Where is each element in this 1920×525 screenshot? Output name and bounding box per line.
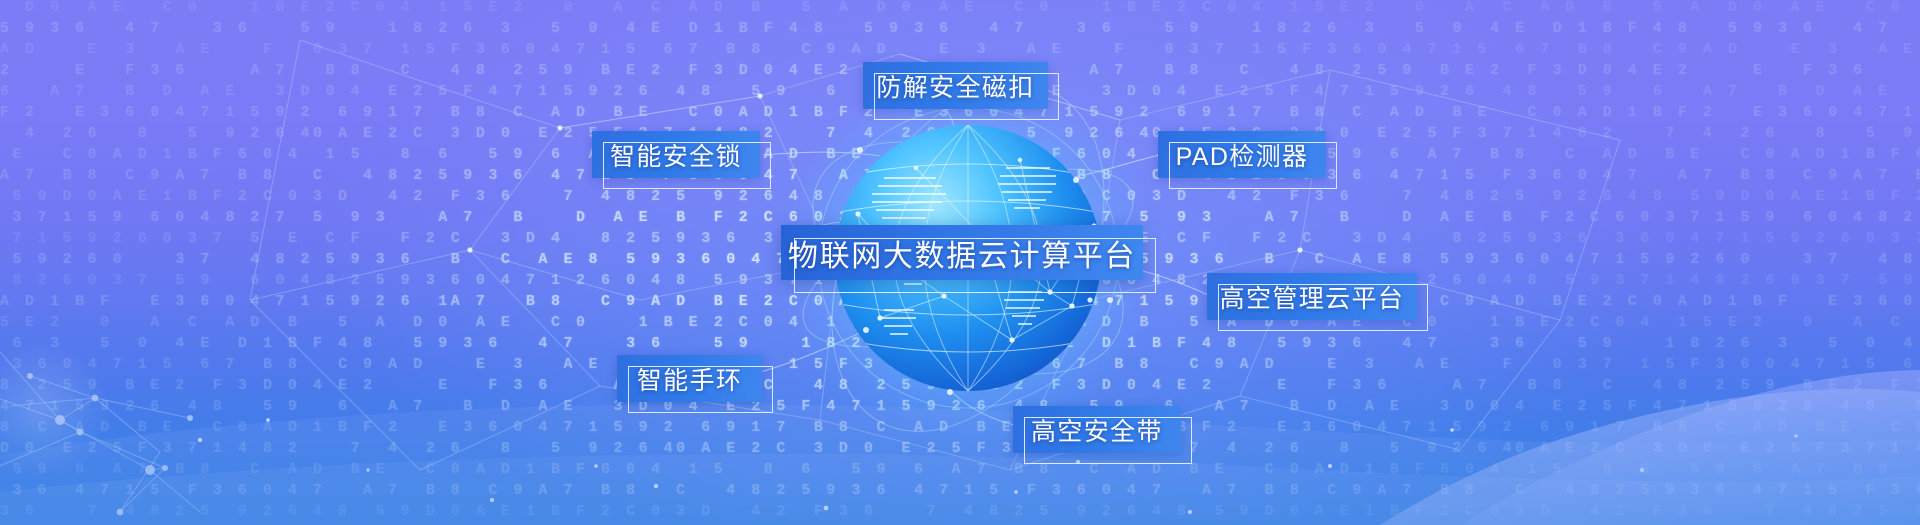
hex-row: 3 6 4 7 1 5 F 3 6 0 4 7 A 7 B 8 C 9 A 7 …	[0, 483, 1920, 498]
label-wulianwang-pingtai[interactable]: 物联网大数据云计算平台	[781, 225, 1143, 280]
label-gaokong-anquandai[interactable]: 高空安全带	[1013, 406, 1181, 453]
bottom-right-waves	[0, 370, 1920, 525]
hex-row: 5 9 3 6 4 7 3 6 5 9 1 8 2 6 3 5 0 4 E D …	[0, 21, 1920, 36]
label-zhineng-shouhuan[interactable]: 智能手环	[617, 355, 762, 402]
hex-row: E C 0 A D 1 B F 6 0 4 1 5 8 6 5 9 6 A 7 …	[0, 147, 1920, 162]
sparkle-dots	[198, 418, 1798, 514]
hex-row: 3 6 4 7 1 5 F 3 6 0 4 7 A 7 B 8 C 9 A 7 …	[0, 483, 1920, 498]
hex-row: 3 6 0 4 7 1 5 6 7 B 8 C 9 A D E 3 A E F …	[0, 357, 1920, 372]
hex-row: A D E 3 A E F 0 3 7 1 5 F 3 6 0 4 7 1 5 …	[0, 42, 1920, 57]
hex-row: 5 E 2 0 A C A D B 5 A D 0 A E C 0 1 B E …	[0, 315, 1920, 330]
hex-row: A 7 B 8 C 9 A 7 B 8 C 4 8 2 5 9 3 6 4 7 …	[0, 168, 1920, 183]
hex-row: D 0 A E C 0 1 B E 2 C 0 4 1 5 E 2 0 A C …	[0, 0, 1920, 15]
hex-row: 8 C A D B E C 0 A D 1 B F 2 E 3 6 0 4 7 …	[0, 420, 1920, 435]
hex-row: 6 3 5 0 4 E D 1 B F 4 8 5 9 3 6 4 7 3 6 …	[0, 336, 1920, 351]
label-gaokong-guanli-yun[interactable]: 高空管理云平台	[1207, 273, 1417, 320]
hex-row: 8 2 5 9 B E 2 F 3 D 0 4 E 2 E F 3 6 A 7 …	[0, 378, 1920, 393]
hex-row: D 0 E 2 5 F 3 7 1 4 8 2 7 4 2 6 8 5 9 2 …	[0, 441, 1920, 456]
hex-row: 5 9 3 6 4 7 3 6 5 9 1 8 2 6 3 5 0 4 E D …	[0, 21, 1920, 36]
hex-row: 5 9 6 A 7 B 8 C A D B E C 0 A D 1 B F 6 …	[0, 462, 1920, 477]
hex-row: 4 7 1 5 9 2 6 4 8 5 9 6 A 7 B D A E 3 D …	[0, 399, 1920, 414]
hex-row: D 0 E 2 5 F 3 7 1 4 8 2 7 4 2 6 8 5 9 2 …	[0, 441, 1920, 456]
hex-row: E C 0 A D 1 B F 6 0 4 1 5 8 6 5 9 6 A 7 …	[0, 147, 1920, 162]
hex-row: 3 7 1 5 9 6 0 4 8 2 7 5 9 3 A 7 B D A E …	[0, 210, 1920, 225]
hex-row: A D 1 B F E 3 6 0 4 7 1 5 9 2 6 1A 7 B 8…	[0, 294, 1920, 309]
hex-row: 4 7 1 5 9 2 6 4 8 5 9 6 A 7 B D A E 3 D …	[0, 399, 1920, 414]
hex-row: 5 9 6 A 7 B 8 C A D B E C 0 A D 1 B F 6 …	[0, 462, 1920, 477]
hex-row: 5 9 D 0 A E 1 B F 2 C 0 3 D 4 2 F 3 6 7 …	[0, 189, 1920, 204]
hex-row: A 7 B 8 C 9 A 7 B 8 C 4 8 2 5 9 3 6 4 7 …	[0, 168, 1920, 183]
hex-row: 3 7 1 5 9 6 0 4 8 2 7 5 9 3 A 7 B D A E …	[0, 210, 1920, 225]
hex-row: 4 2 6 8 5 9 2 6 40 A E 2 C 3 D 0 E 2 5 F…	[0, 126, 1920, 141]
hex-row: A D E 3 A E F 0 3 7 1 5 F 3 6 0 4 7 1 5 …	[0, 42, 1920, 57]
hex-row: 5 9 D 0 A E 1 B F 2 C 0 3 D 4 2 F 3 6 7 …	[0, 189, 1920, 204]
hex-row: 3 6 7 4 8 2 5 9 2 6 4 8 5 9 D 0 A E 1 B …	[0, 504, 1920, 519]
hex-row: A D 1 B F E 3 6 0 4 7 1 5 9 2 6 1A 7 B 8…	[0, 294, 1920, 309]
label-pad-jianceqi[interactable]: PAD检测器	[1158, 131, 1326, 178]
hex-row: 4 2 6 8 5 9 2 6 40 A E 2 C 3 D 0 E 2 5 F…	[0, 126, 1920, 141]
hex-row: D 0 A E C 0 1 B E 2 C 0 4 1 5 E 2 0 A C …	[0, 0, 1920, 15]
hex-row: 6 3 5 0 4 E D 1 B F 4 8 5 9 3 6 4 7 3 6 …	[0, 336, 1920, 351]
iot-banner: D 0 A E C 0 1 B E 2 C 0 4 1 5 E 2 0 A C …	[0, 0, 1920, 525]
bottom-left-constellation	[0, 340, 200, 515]
hex-row: 8 2 5 9 B E 2 F 3 D 0 4 E 2 E F 3 6 A 7 …	[0, 378, 1920, 393]
hex-row: 3 6 0 4 7 1 5 6 7 B 8 C 9 A D E 3 A E F …	[0, 357, 1920, 372]
hex-row: 5 E 2 0 A C A D B 5 A D 0 A E C 0 1 B E …	[0, 315, 1920, 330]
label-zhineng-anquansuo[interactable]: 智能安全锁	[592, 131, 760, 178]
label-fangjie-anquan-cikou[interactable]: 防解安全磁扣	[863, 62, 1048, 109]
hex-row: 8 C A D B E C 0 A D 1 B F 2 E 3 6 0 4 7 …	[0, 420, 1920, 435]
hex-row: 3 6 7 4 8 2 5 9 2 6 4 8 5 9 D 0 A E 1 B …	[0, 504, 1920, 519]
